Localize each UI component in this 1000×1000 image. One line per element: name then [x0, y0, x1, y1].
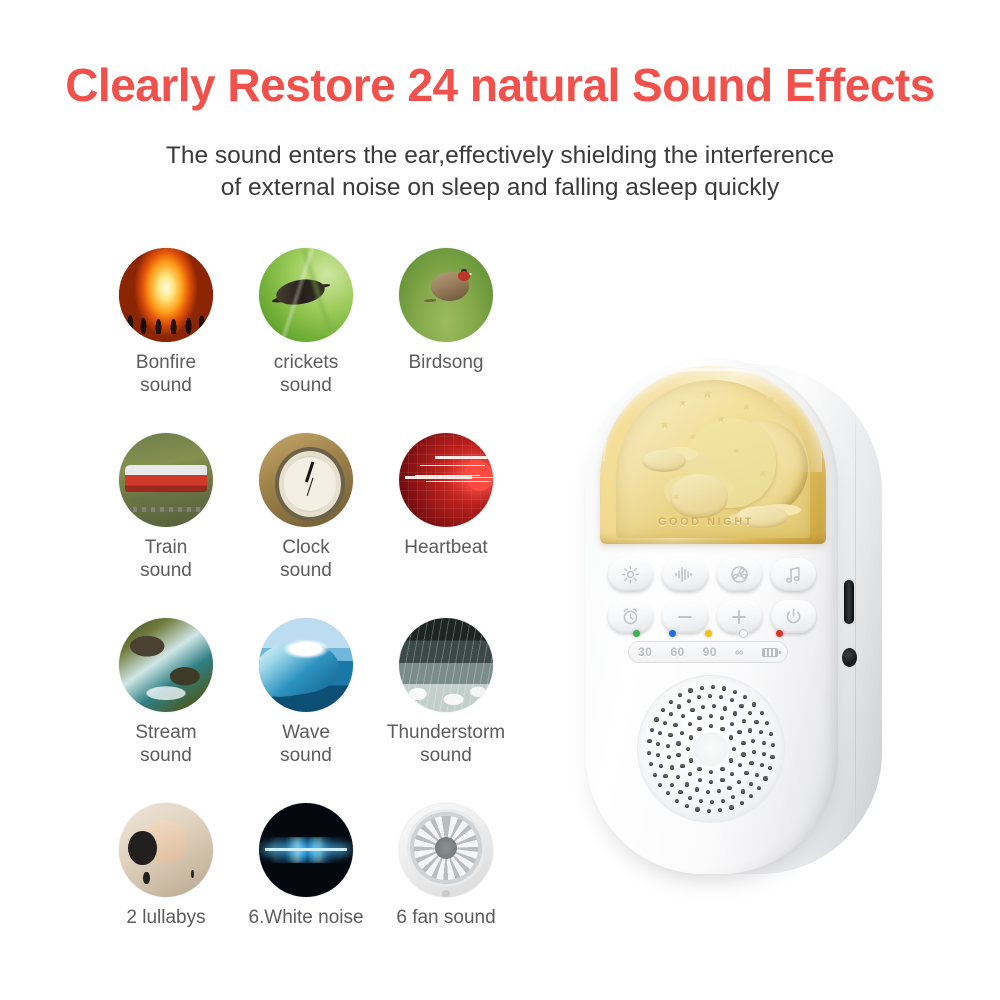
sound-item-fan[interactable]: 6 fan sound	[376, 803, 516, 988]
speaker-hole	[676, 753, 680, 757]
speaker-hole	[711, 685, 715, 689]
sound-label: Birdsong	[409, 351, 484, 374]
speaker-hole	[759, 730, 763, 734]
power-icon[interactable]	[771, 600, 816, 633]
lullaby-icon	[119, 803, 213, 897]
speaker-hole	[659, 764, 663, 768]
speaker-hole	[733, 711, 737, 715]
sound-wave-icon[interactable]	[662, 558, 707, 591]
speaker-hole	[676, 775, 680, 779]
sound-label: Clock sound	[280, 536, 332, 582]
battery-icon	[762, 648, 778, 657]
speaker-hole	[649, 762, 653, 766]
speaker-hole	[729, 805, 733, 809]
subtitle-line-1: The sound enters the ear,effectively shi…	[166, 142, 834, 169]
sound-label: crickets sound	[274, 351, 338, 397]
brightness-icon[interactable]	[608, 558, 653, 591]
speaker-hole	[695, 807, 699, 811]
speaker-hole	[688, 772, 692, 776]
speaker-hole	[658, 783, 662, 787]
speaker-hole	[669, 712, 673, 716]
speaker-hole	[690, 708, 694, 712]
sound-item-lullabys[interactable]: 2 lullabys	[96, 803, 236, 988]
sound-label: Stream sound	[135, 721, 196, 767]
fan-icon[interactable]	[717, 558, 762, 591]
product-photo: GOOD NIGHT	[560, 330, 960, 910]
speaker-hole	[667, 755, 671, 759]
speaker-hole	[749, 794, 753, 798]
button-row-top	[608, 558, 816, 591]
speaker-hole	[718, 808, 722, 812]
timer-mark-30: 30	[638, 645, 652, 659]
speaker-hole	[741, 789, 745, 793]
speaker-hole	[762, 741, 766, 745]
page-title: Clearly Restore 24 natural Sound Effects	[0, 58, 1000, 112]
timer-mark-60: 60	[670, 645, 684, 659]
sound-label: Train sound	[140, 536, 192, 582]
subtitle-line-2: of external noise on sleep and falling a…	[0, 172, 1000, 204]
speaker-hole	[727, 786, 731, 790]
speaker-hole	[675, 799, 679, 803]
speaker-hole	[737, 780, 741, 784]
white-noise-icon	[259, 803, 353, 897]
sound-machine-device: GOOD NIGHT	[586, 358, 876, 880]
speaker-hole	[744, 771, 748, 775]
speaker-hole	[717, 789, 721, 793]
speaker-hole	[749, 782, 753, 786]
speaker-hole	[706, 790, 710, 794]
speaker-hole	[771, 743, 775, 747]
speaker-hole	[656, 742, 660, 746]
speaker-hole	[700, 686, 704, 690]
speaker-hole	[653, 773, 657, 777]
speaker-hole	[697, 727, 701, 731]
speaker-hole	[741, 741, 745, 745]
speaker-hole	[748, 711, 752, 715]
speaker-hole	[757, 786, 761, 790]
led-60min	[669, 630, 676, 637]
sound-label: Thunderstorm sound	[387, 721, 505, 767]
speaker-hole	[742, 719, 746, 723]
speaker-hole	[678, 693, 682, 697]
fan-icon	[399, 803, 493, 897]
speaker-hole	[741, 752, 745, 756]
speaker-hole	[769, 732, 773, 736]
speaker-hole	[754, 720, 758, 724]
speaker-hole	[680, 764, 684, 768]
speaker-hole	[737, 730, 741, 734]
sound-item-stream[interactable]: Stream sound	[96, 618, 236, 803]
sound-label: Wave sound	[280, 721, 332, 767]
speaker-hole	[751, 739, 755, 743]
speaker-hole	[719, 695, 723, 699]
speaker-hole	[670, 783, 674, 787]
dome-inner-panel: GOOD NIGHT	[616, 380, 810, 538]
speaker-hole	[701, 705, 705, 709]
speaker-hole	[709, 780, 713, 784]
speaker-hole	[688, 796, 692, 800]
stream-icon	[119, 618, 213, 712]
speaker-hole	[670, 765, 674, 769]
speaker-hole	[658, 731, 662, 735]
birdsong-icon	[399, 248, 493, 342]
speaker-hole	[677, 704, 681, 708]
sound-label: 6.White noise	[248, 906, 363, 929]
speaker-hole	[663, 774, 667, 778]
speaker-hole	[730, 772, 734, 776]
thunderstorm-icon	[399, 618, 493, 712]
speaker-hole	[663, 721, 667, 725]
timer-mark-infinite: ∞	[735, 645, 744, 659]
speaker-hole	[749, 761, 753, 765]
speaker-hole	[760, 763, 764, 767]
sound-item-train[interactable]: Train sound	[96, 433, 236, 618]
train-icon	[119, 433, 213, 527]
speaker-hole	[673, 723, 677, 727]
speaker-hole	[733, 690, 737, 694]
speaker-hole	[680, 731, 684, 735]
button-row-bottom	[608, 600, 816, 633]
speaker-hole	[685, 782, 689, 786]
speaker-hole	[720, 716, 724, 720]
speaker-hole	[707, 809, 711, 813]
plus-icon[interactable]	[717, 600, 762, 633]
speaker-hole	[729, 758, 733, 762]
speaker-hole	[763, 776, 767, 780]
speaker-hole	[668, 733, 672, 737]
speaker-hole	[752, 750, 756, 754]
wave-icon	[259, 618, 353, 712]
speaker-hole	[722, 686, 726, 690]
speaker-hole	[650, 728, 654, 732]
speaker-hole	[709, 770, 713, 774]
speaker-hole	[739, 704, 743, 708]
speaker-hole	[678, 790, 682, 794]
cloud-icon	[642, 450, 686, 472]
alarm-clock-icon[interactable]	[608, 600, 653, 633]
speaker-hole	[762, 752, 766, 756]
speaker-hole	[755, 773, 759, 777]
speaker-hole	[669, 700, 673, 704]
speaker-hole	[647, 751, 651, 755]
speaker-hole	[695, 787, 699, 791]
speaker-hole	[654, 717, 658, 721]
speaker-hole	[743, 695, 747, 699]
sound-item-white-noise[interactable]: 6.White noise	[236, 803, 376, 988]
speaker-hole	[732, 747, 736, 751]
shell-seam	[855, 398, 857, 838]
speaker-hole	[697, 716, 701, 720]
speaker-hole	[731, 795, 735, 799]
speaker-hole	[720, 767, 724, 771]
sound-item-birdsong[interactable]: Birdsong	[376, 248, 516, 433]
speaker-center	[694, 732, 728, 766]
speaker-hole	[709, 714, 713, 718]
led-battery	[776, 630, 783, 637]
speaker-hole	[730, 698, 734, 702]
speaker-hole	[687, 699, 691, 703]
sound-item-thunderstorm[interactable]: Thunderstorm sound	[376, 618, 516, 803]
page-subtitle: The sound enters the ear,effectively shi…	[0, 140, 1000, 204]
speaker-hole	[710, 800, 714, 804]
speaker-hole	[740, 801, 744, 805]
heartbeat-icon	[399, 433, 493, 527]
speaker-hole	[748, 728, 752, 732]
speaker-hole	[723, 706, 727, 710]
timer-mark-90: 90	[703, 645, 717, 659]
speaker-hole	[770, 755, 774, 759]
speaker-hole	[760, 711, 764, 715]
sound-item-clock[interactable]: Clock sound	[236, 433, 376, 618]
sound-label: Bonfire sound	[136, 351, 196, 397]
led-90min	[705, 630, 712, 637]
speaker-hole	[738, 763, 742, 767]
crickets-icon	[259, 248, 353, 342]
speaker-hole	[765, 721, 769, 725]
speaker-hole	[720, 727, 724, 731]
dome-engraving-text: GOOD NIGHT	[658, 516, 754, 528]
speaker-hole	[709, 724, 713, 728]
speaker-hole	[698, 778, 702, 782]
speaker-hole	[681, 714, 685, 718]
speaker-hole	[721, 799, 725, 803]
speaker-hole	[697, 695, 701, 699]
speaker-grille	[638, 676, 784, 822]
speaker-hole	[697, 767, 701, 771]
speaker-hole	[720, 778, 724, 782]
speaker-hole	[688, 688, 692, 692]
led-indicator-row	[633, 630, 783, 637]
speaker-hole	[752, 702, 756, 706]
speaker-hole	[686, 747, 690, 751]
speaker-hole	[666, 791, 670, 795]
usb-c-port[interactable]	[844, 580, 854, 624]
led-30min	[633, 630, 640, 637]
clock-icon	[259, 433, 353, 527]
sound-item-heartbeat[interactable]: Heartbeat	[376, 433, 516, 618]
sound-item-crickets[interactable]: crickets sound	[236, 248, 376, 433]
sound-label: Heartbeat	[404, 536, 487, 559]
speaker-hole	[661, 708, 665, 712]
sound-item-bonfire[interactable]: Bonfire sound	[96, 248, 236, 433]
speaker-hole	[666, 744, 670, 748]
music-note-icon[interactable]	[771, 558, 816, 591]
led-infinite	[740, 630, 747, 637]
speaker-hole	[712, 704, 716, 708]
bonfire-icon	[119, 248, 213, 342]
speaker-hole	[647, 739, 651, 743]
speaker-hole	[689, 735, 693, 739]
sound-item-wave[interactable]: Wave sound	[236, 618, 376, 803]
speaker-hole	[688, 722, 692, 726]
speaker-hole	[689, 758, 693, 762]
speaker-hole	[656, 753, 660, 757]
speaker-hole	[729, 735, 733, 739]
sound-label: 6 fan sound	[396, 906, 495, 929]
timer-scale-strip: 30 60 90 ∞	[628, 641, 788, 663]
speaker-hole	[685, 804, 689, 808]
sound-effects-grid: Bonfire sound crickets sound Birdsong Tr…	[96, 248, 516, 988]
speaker-hole	[730, 722, 734, 726]
speaker-hole	[699, 799, 703, 803]
speaker-hole	[768, 766, 772, 770]
speaker-hole	[708, 694, 712, 698]
minus-icon[interactable]	[662, 600, 707, 633]
speaker-hole	[676, 741, 680, 745]
sound-label: 2 lullabys	[126, 906, 205, 929]
bear-icon	[670, 474, 728, 518]
